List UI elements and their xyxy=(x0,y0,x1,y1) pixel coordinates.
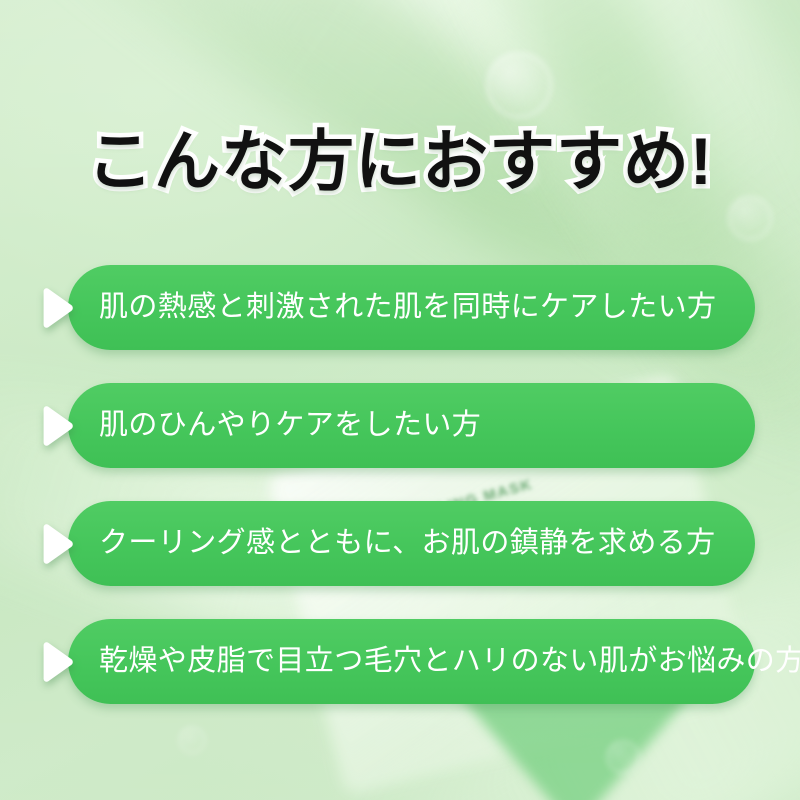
bullet-label: 肌の熱感と刺激された肌を同時にケアしたい方 xyxy=(99,292,716,324)
play-triangle-icon xyxy=(38,406,74,446)
bubble-icon xyxy=(486,52,552,118)
bubble-icon xyxy=(606,740,640,774)
bubble-icon xyxy=(178,726,206,754)
promo-banner: COOLING MASK こんな方におすすめ! 肌の熱感と刺激された肌を同時にケ… xyxy=(0,0,800,800)
list-item: 肌の熱感と刺激された肌を同時にケアしたい方 xyxy=(0,265,800,350)
bullet-label: 肌のひんやりケアをしたい方 xyxy=(99,410,481,442)
list-item: 肌のひんやりケアをしたい方 xyxy=(0,383,800,468)
bullet-pill: 乾燥や皮脂で目立つ毛穴とハリのない肌がお悩みの方 xyxy=(68,619,755,704)
play-triangle-icon xyxy=(38,642,74,682)
bubble-icon xyxy=(728,196,772,240)
play-triangle-icon xyxy=(38,524,74,564)
bullet-pill: クーリング感とともに、お肌の鎮静を求める方 xyxy=(68,501,755,586)
bullet-pill: 肌の熱感と刺激された肌を同時にケアしたい方 xyxy=(68,265,755,350)
list-item: 乾燥や皮脂で目立つ毛穴とハリのない肌がお悩みの方 xyxy=(0,619,800,704)
bullet-label: クーリング感とともに、お肌の鎮静を求める方 xyxy=(99,528,716,560)
package-fold-shape xyxy=(455,690,695,800)
bullet-label: 乾燥や皮脂で目立つ毛穴とハリのない肌がお悩みの方 xyxy=(99,646,800,678)
list-item: クーリング感とともに、お肌の鎮静を求める方 xyxy=(0,501,800,586)
bullet-pill: 肌のひんやりケアをしたい方 xyxy=(68,383,755,468)
recommendation-list: 肌の熱感と刺激された肌を同時にケアしたい方 肌のひんやりケアをしたい方 クーリン… xyxy=(0,265,800,704)
page-title: こんな方におすすめ! xyxy=(0,128,800,194)
play-triangle-icon xyxy=(38,288,74,328)
